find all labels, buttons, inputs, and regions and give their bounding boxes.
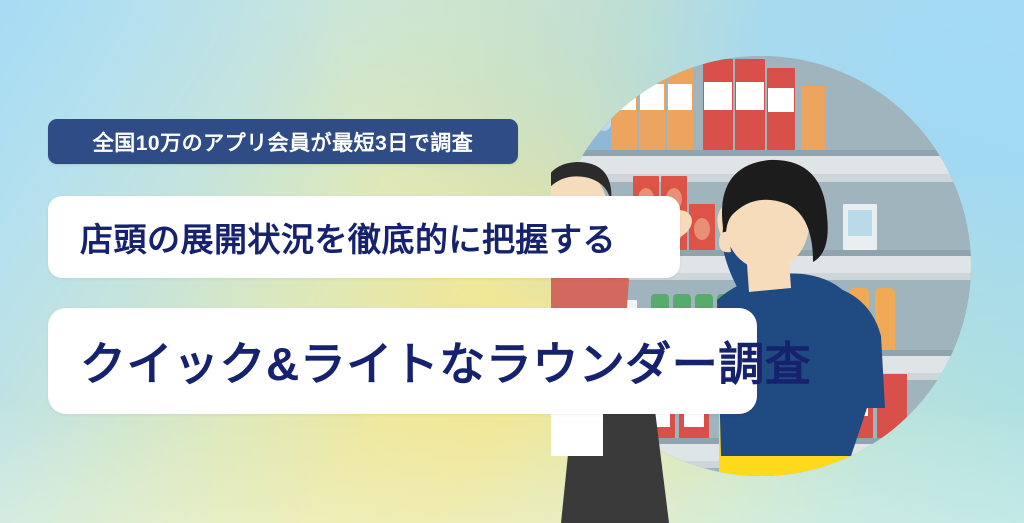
banner-stage: 全国10万のアプリ会員が最短3日で調査 店頭の展開状況を徹底的に把握する クイッ…: [0, 0, 1024, 523]
headline-banner-secondary: クイック&ライトなラウンダー調査: [48, 308, 757, 414]
headline-secondary-label: クイック&ライトなラウンダー調査: [80, 328, 811, 394]
headline-primary-label: 店頭の展開状況を徹底的に把握する: [80, 213, 616, 261]
shopper-figures: [551, 56, 971, 523]
eyebrow-badge-label: 全国10万のアプリ会員が最短3日で調査: [93, 127, 474, 157]
eyebrow-badge: 全国10万のアプリ会員が最短3日で調査: [48, 119, 518, 164]
headline-banner-primary: 店頭の展開状況を徹底的に把握する: [48, 196, 680, 278]
